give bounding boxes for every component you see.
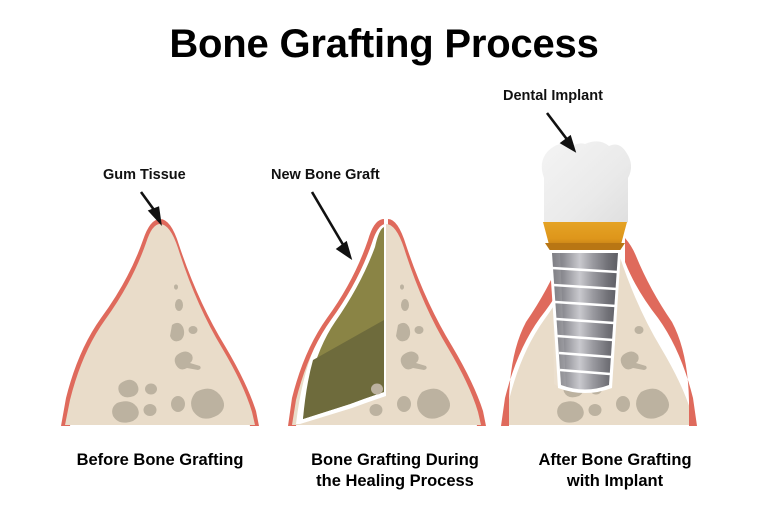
implant-screw-body (552, 253, 618, 390)
gum-tissue-shape-2-right (388, 219, 486, 426)
panel-caption-after: After Bone Grafting with Implant (500, 450, 730, 492)
implant-screw-threads (552, 268, 618, 374)
bone-graft-wedge-shadow-2 (303, 320, 384, 419)
gum-tissue-shape-3-left (501, 238, 573, 426)
panel-before-illustration (61, 219, 259, 426)
callout-label-new-bone-graft: New Bone Graft (271, 167, 380, 183)
gum-tissue-shape-2-left (288, 219, 384, 426)
new-bone-graft-arrow-head (338, 243, 350, 257)
gum-tissue-shape-3-right (625, 238, 697, 426)
page-title: Bone Grafting Process (0, 22, 768, 67)
callout-label-dental-implant: Dental Implant (503, 88, 603, 104)
bone-marrow-speckles-1 (112, 284, 224, 422)
callout-label-gum-tissue: Gum Tissue (103, 167, 186, 183)
panel-caption-before: Before Bone Grafting (45, 450, 275, 471)
illustration-layer (0, 0, 768, 511)
gum-tissue-shape-1 (61, 219, 259, 426)
implant-screw-outline (549, 250, 621, 393)
dental-implant-arrow-head (562, 137, 574, 150)
jaw-bone-shape-2 (292, 224, 481, 425)
bone-marrow-speckles-3 (557, 326, 669, 423)
implant-crown (542, 141, 631, 226)
bone-graft-wedge-2 (303, 227, 384, 419)
implant-screw-highlight (552, 253, 566, 388)
implant-abutment-shadow (545, 243, 625, 252)
gum-tissue-arrow-line (141, 192, 157, 214)
callout-arrow-layer (0, 0, 768, 511)
jaw-bone-shape-1 (65, 224, 255, 425)
gum-tissue-arrow-head (150, 208, 160, 222)
infographic-canvas: Bone Grafting Process (0, 0, 768, 511)
bone-marrow-speckles-2 (370, 284, 451, 418)
implant-abutment (543, 222, 627, 252)
graft-separator-2 (296, 222, 386, 424)
panel-during-illustration (288, 219, 486, 426)
jaw-bone-shape-3 (505, 224, 694, 425)
panel-after-illustration (501, 141, 697, 426)
panel-caption-during: Bone Grafting During the Healing Process (280, 450, 510, 492)
dental-implant-arrow-line (547, 113, 569, 142)
new-bone-graft-arrow-line (312, 192, 345, 248)
